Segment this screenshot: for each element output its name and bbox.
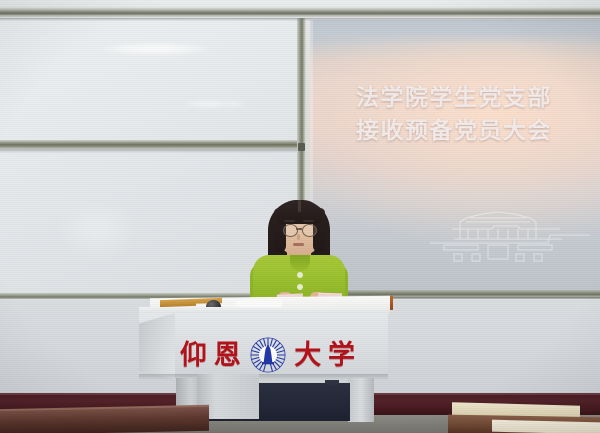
podium-panel-tab [325, 380, 339, 385]
speaker-mouth [293, 243, 304, 246]
whiteboard [0, 18, 303, 293]
speaker-eyebrow-right [303, 220, 314, 222]
whiteboard-glare [225, 101, 247, 107]
sunburst-emblem-icon [248, 336, 288, 374]
whiteboard-rail-shadow [0, 149, 303, 153]
classroom-photo-scene: 法学院学生党支部 接收预备党员大会 仰 [0, 0, 600, 433]
eyeglasses-lens-left [283, 224, 298, 237]
logo-char-3: 大 [294, 342, 321, 369]
podium-university-logo: 仰 恩 [180, 337, 355, 373]
ceiling-rail [0, 6, 600, 18]
eyeglasses-lens-right [302, 224, 317, 237]
podium-leg-right [348, 378, 374, 422]
whiteboard-glare [100, 43, 210, 55]
whiteboard-rail [0, 140, 303, 149]
screen-headline-line2: 接收预备党员大会 [356, 115, 600, 148]
speaker-button [297, 284, 303, 290]
podium-left-face [139, 313, 175, 379]
tiananmen-gate-icon [430, 205, 590, 263]
ceiling-rail-shadow [0, 18, 600, 21]
foreground-desk-paper [492, 420, 600, 433]
logo-char-4: 学 [328, 342, 355, 369]
screen-headline: 法学院学生党支部 接收预备党员大会 [356, 82, 600, 148]
speaker-hair-part [298, 200, 301, 212]
speaker-button [297, 272, 303, 278]
speaker-eyebrow-left [284, 220, 295, 222]
eyeglasses-bridge [296, 228, 302, 230]
speaker-nose [297, 234, 300, 240]
logo-char-2: 恩 [214, 342, 241, 369]
screen-top-band [310, 20, 600, 44]
foreground-desk-left [0, 407, 209, 433]
screen-headline-line1: 法学院学生党支部 [356, 82, 600, 115]
whiteboard-frame-bracket [298, 143, 305, 151]
whiteboard-glare [55, 200, 140, 260]
logo-char-1: 仰 [180, 342, 207, 369]
